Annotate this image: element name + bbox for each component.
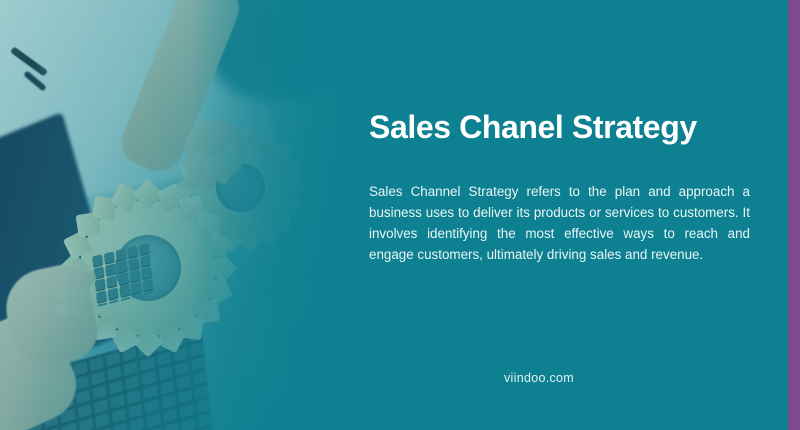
keyboard-key	[179, 404, 194, 419]
photo-background	[0, 0, 400, 430]
keyboard-key	[113, 423, 128, 430]
keyboard-key	[95, 278, 106, 290]
keyboard-key	[175, 361, 190, 376]
keyboard-key	[141, 267, 152, 279]
gear-tooth	[257, 224, 278, 245]
slide-description: Sales Channel Strategy refers to the pla…	[369, 181, 750, 265]
finger	[58, 287, 91, 303]
keyboard-key	[105, 263, 116, 275]
keyboard-key	[130, 418, 145, 430]
keyboard-key	[140, 255, 151, 267]
keyboard-key	[164, 422, 179, 430]
footer-website-url[interactable]: viindoo.com	[369, 371, 709, 385]
hero-photo	[0, 0, 400, 430]
keyboard-key	[75, 390, 90, 405]
keyboard-key	[139, 243, 150, 255]
keyboard-key	[178, 389, 193, 404]
keyboard-key	[157, 352, 172, 367]
page-title: Sales Chanel Strategy	[369, 107, 750, 147]
slide-canvas: Sales Chanel Strategy Sales Channel Stra…	[0, 0, 800, 430]
keyboard-key	[143, 385, 158, 400]
keyboard-key	[78, 418, 93, 430]
keyboard-key	[193, 371, 208, 386]
keyboard-key	[96, 290, 107, 302]
gear-faint-icon	[242, 278, 377, 413]
keyboard-key	[146, 413, 161, 428]
keyboard-key	[62, 423, 77, 430]
keyboard-key	[190, 342, 205, 357]
keyboard-key	[125, 375, 140, 390]
keyboard-key	[95, 413, 110, 428]
keyboard-key	[158, 366, 173, 381]
keyboard-key	[92, 385, 107, 400]
keyboard-key	[128, 404, 143, 419]
keyboard-key	[181, 418, 196, 430]
keyboard-key	[93, 399, 108, 414]
keyboard-key	[191, 356, 206, 371]
keyboard-key	[118, 273, 129, 285]
content-column: Sales Chanel Strategy Sales Channel Stra…	[369, 0, 750, 430]
keyboard-key	[110, 394, 125, 409]
keyboard-key	[163, 408, 178, 423]
keyboard-key	[91, 371, 106, 386]
keyboard-key	[104, 251, 115, 263]
accent-bar-right	[788, 0, 800, 430]
keyboard-key	[131, 282, 142, 294]
keyboard-key	[127, 390, 142, 405]
keyboard-key	[111, 408, 126, 423]
keyboard-key	[194, 385, 209, 400]
keyboard-key	[127, 246, 138, 258]
keyboard-key	[116, 248, 127, 260]
keyboard-key	[140, 357, 155, 372]
keyboard-key	[160, 380, 175, 395]
keyboard-key	[107, 366, 122, 381]
keyboard-key	[197, 413, 212, 428]
keyboard-key	[119, 285, 130, 297]
keyboard-key	[108, 288, 119, 300]
keyboard-key	[109, 380, 124, 395]
keyboard-key	[92, 254, 103, 266]
keyboard-key	[89, 357, 104, 372]
keyboard-key	[77, 404, 92, 419]
keyboard-key	[106, 275, 117, 287]
keyboard-key	[142, 371, 157, 386]
finger	[54, 303, 84, 318]
keyboard-key	[176, 375, 191, 390]
keyboard-key	[143, 279, 154, 291]
keyboard-key	[145, 399, 160, 414]
keyboard-key	[117, 260, 128, 272]
keyboard-key	[196, 399, 211, 414]
keyboard-key	[161, 394, 176, 409]
keyboard-key	[124, 361, 139, 376]
keyboard-key	[106, 352, 121, 367]
keyboard-key	[130, 270, 141, 282]
keyboard-key	[128, 258, 139, 270]
